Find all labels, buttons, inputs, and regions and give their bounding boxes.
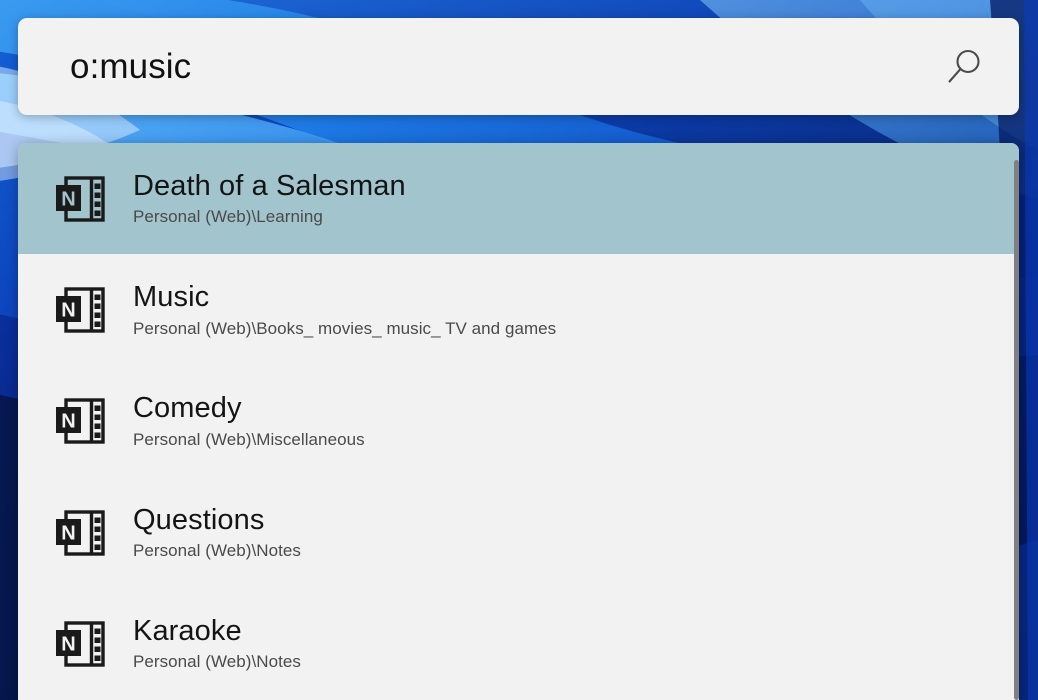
result-item-4[interactable]: N Karaoke Personal (Web)\Notes [18,588,1019,699]
result-title: Music [133,281,1019,313]
onenote-icon: N [54,397,106,445]
onenote-icon: N [54,620,106,668]
svg-text:N: N [61,411,75,433]
result-subtitle: Personal (Web)\Learning [133,206,1019,227]
svg-text:N: N [61,522,75,544]
desktop: o:music [0,0,1038,700]
result-title: Comedy [133,392,1019,424]
result-item-2[interactable]: N Comedy Personal (Web)\Miscellaneous [18,366,1019,477]
results-scrollbar[interactable] [1014,160,1019,700]
search-icon[interactable] [941,44,987,90]
result-title: Karaoke [133,615,1019,647]
result-subtitle: Personal (Web)\Notes [133,540,1019,561]
result-item-3[interactable]: N Questions Personal (Web)\Notes [18,477,1019,588]
search-bar[interactable]: o:music [18,18,1019,115]
onenote-icon: N [54,286,106,334]
svg-text:N: N [61,633,75,655]
svg-text:N: N [61,188,75,210]
result-item-0[interactable]: N Death of a Salesman Personal (Web)\Lea… [18,143,1019,254]
result-text-1: Music Personal (Web)\Books_ movies_ musi… [133,281,1019,339]
result-title: Death of a Salesman [133,170,1019,202]
results-list: N Death of a Salesman Personal (Web)\Lea… [18,143,1019,700]
svg-text:N: N [61,299,75,321]
result-text-3: Questions Personal (Web)\Notes [133,504,1019,562]
result-text-2: Comedy Personal (Web)\Miscellaneous [133,392,1019,450]
result-text-4: Karaoke Personal (Web)\Notes [133,615,1019,673]
onenote-icon: N [54,509,106,557]
result-text-0: Death of a Salesman Personal (Web)\Learn… [133,170,1019,228]
result-item-1[interactable]: N Music Personal (Web)\Books_ movies_ mu… [18,254,1019,365]
search-input[interactable]: o:music [70,49,941,84]
scrollbar-thumb[interactable] [1014,160,1019,700]
onenote-icon: N [54,175,106,223]
result-title: Questions [133,504,1019,536]
result-subtitle: Personal (Web)\Miscellaneous [133,429,1019,450]
result-subtitle: Personal (Web)\Notes [133,651,1019,672]
result-subtitle: Personal (Web)\Books_ movies_ music_ TV … [133,318,1019,339]
search-icon-glyph [943,46,985,88]
search-results-panel: N Death of a Salesman Personal (Web)\Lea… [18,143,1019,700]
